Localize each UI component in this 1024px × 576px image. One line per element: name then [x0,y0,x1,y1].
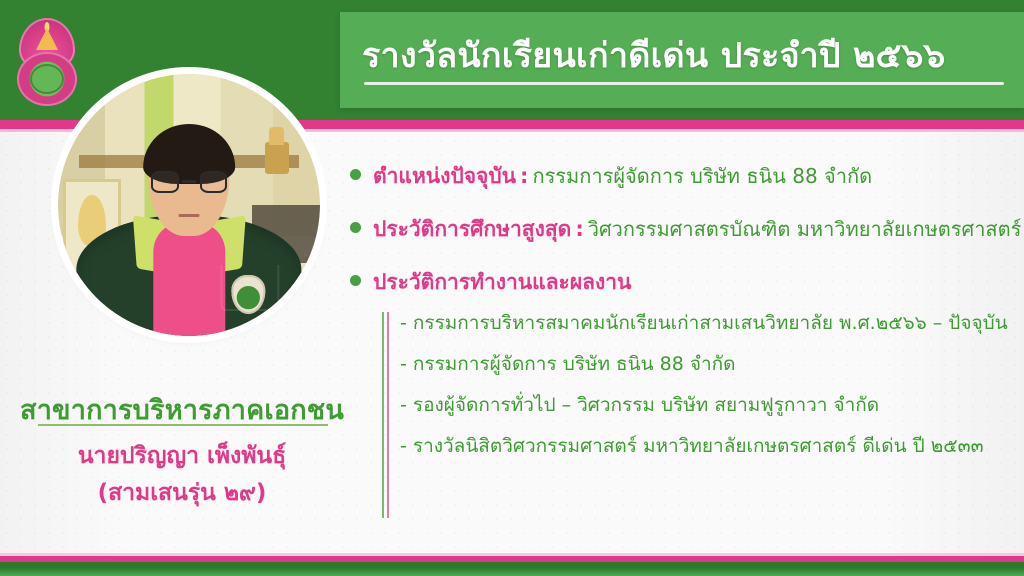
sublist-rule-green [382,312,384,518]
slide-canvas: รางวัลนักเรียนเก่าดีเด่น ประจำปี ๒๕๖๖ [0,0,1024,576]
award-category-underline [38,424,328,426]
list-item: -กรรมการผู้จัดการ บริษัท ธนิน 88 จำกัด [400,355,1008,374]
list-item-text: รองผู้จัดการทั่วไป – วิศวกรรม บริษัท สยา… [413,394,879,416]
list-item-dash: - [400,394,413,416]
portrait-photo [58,74,320,336]
portrait-glasses-left [151,171,179,193]
detail-value: กรรมการผู้จัดการ บริษัท ธนิน 88 จำกัด [532,160,872,192]
bullet-dot-icon [350,222,361,233]
page-title: รางวัลนักเรียนเก่าดีเด่น ประจำปี ๒๕๖๖ [362,28,1006,82]
list-item-text: กรรมการผู้จัดการ บริษัท ธนิน 88 จำกัด [413,353,736,375]
footer-green-band [0,562,1024,576]
detail-value: วิศวกรรมศาสตรบัณฑิต มหาวิทยาลัยเกษตรศาสต… [588,213,1022,245]
detail-label: ประวัติการทำงานและผลงาน [373,266,631,299]
avatar [58,74,320,336]
bullet-dot-icon [350,169,361,180]
detail-label: ประวัติการศึกษาสูงสุด [373,213,571,246]
list-item-text: กรรมการบริหารสมาคมนักเรียนเก่าสามเสนวิทย… [413,312,1008,334]
detail-separator: : [571,217,587,241]
portrait-mouth [179,214,200,217]
portrait-glasses-right [200,171,228,193]
list-item: -รองผู้จัดการทั่วไป – วิศวกรรม บริษัท สย… [400,396,1008,415]
recipient-batch: (สามเสนรุ่น ๒๙) [0,475,364,511]
list-item: -รางวัลนิสิตวิศวกรรมศาสตร์ มหาวิทยาลัยเก… [400,437,1008,456]
detail-row-position: ตำแหน่งปัจจุบัน : กรรมการผู้จัดการ บริษั… [350,160,1024,193]
list-item-dash: - [400,312,413,334]
photo-background-trophy [265,142,289,173]
list-item-text: รางวัลนิสิตวิศวกรรมศาสตร์ มหาวิทยาลัยเกษ… [413,435,984,457]
title-banner: รางวัลนักเรียนเก่าดีเด่น ประจำปี ๒๕๖๖ [340,12,1024,108]
portrait-glasses-bridge [182,180,196,183]
detail-row-education: ประวัติการศึกษาสูงสุด : วิศวกรรมศาสตรบัณ… [350,213,1024,246]
details-list: ตำแหน่งปัจจุบัน : กรรมการผู้จัดการ บริษั… [350,160,1024,319]
detail-separator: : [516,164,532,188]
sublist-rule-pink [387,312,389,518]
list-item: -กรรมการบริหารสมาคมนักเรียนเก่าสามเสนวิท… [400,314,1008,333]
title-underline [364,82,1004,85]
list-item-dash: - [400,353,413,375]
detail-row-experience: ประวัติการทำงานและผลงาน [350,266,1024,299]
detail-label: ตำแหน่งปัจจุบัน [373,160,516,193]
recipient-name: นายปริญญา เพ็งพันธุ์ [0,438,364,474]
list-item-dash: - [400,435,413,457]
portrait-shirt [153,224,225,336]
bullet-dot-icon [350,275,361,286]
